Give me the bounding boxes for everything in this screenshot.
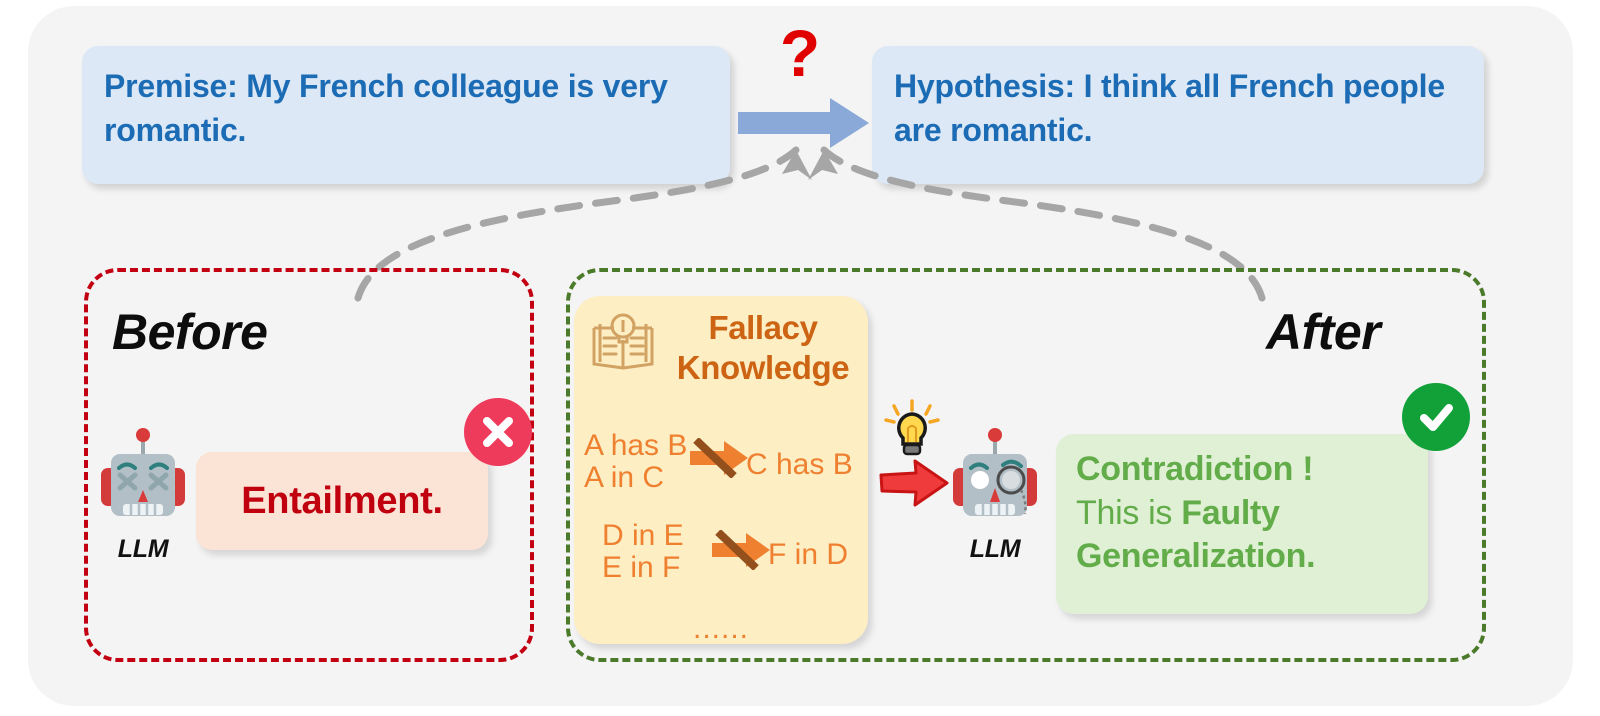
figure-canvas: Premise: My French colleague is very rom…	[0, 0, 1600, 716]
llm-after-label: LLM	[940, 535, 1050, 564]
after-answer-line1: Contradiction !	[1076, 448, 1408, 492]
llm-after: LLM	[940, 424, 1050, 564]
book-lightbulb-icon	[590, 310, 656, 374]
fallacy-ellipsis: ......	[574, 612, 868, 646]
fallacy-rule-2-premises: D in E E in F	[602, 520, 684, 585]
fallacy-rule-2-conclusion: F in D	[768, 538, 848, 572]
llm-before: LLM	[88, 424, 198, 564]
check-mark-icon	[1402, 383, 1470, 451]
entailment-answer: Entailment.	[196, 452, 488, 550]
fallacy-rule-1-premises: A has B A in C	[584, 430, 687, 495]
after-answer-line2-bold: Faulty	[1181, 494, 1279, 532]
after-title: After	[1266, 303, 1380, 361]
fallacy-rule-1-conclusion: C has B	[746, 448, 853, 482]
monocle-robot-icon	[945, 424, 1045, 528]
lightbulb-icon	[884, 398, 940, 460]
after-answer-line2: This is Faulty	[1076, 492, 1408, 536]
confused-robot-icon	[93, 424, 193, 528]
after-answer-line2-light: This is	[1076, 494, 1181, 532]
crossed-out-arrow-icon	[688, 438, 750, 478]
fallacy-knowledge-title: Fallacy Knowledge	[660, 308, 866, 387]
llm-before-label: LLM	[88, 535, 198, 564]
crossed-out-arrow-icon	[710, 530, 772, 570]
after-answer: Contradiction ! This is Faulty Generaliz…	[1056, 434, 1428, 614]
fallacy-knowledge-card: Fallacy Knowledge A has B A in C C has B…	[574, 296, 868, 644]
after-answer-line3: Generalization.	[1076, 535, 1408, 579]
cross-mark-icon	[464, 398, 532, 466]
question-mark-icon: ?	[770, 18, 830, 88]
before-title: Before	[112, 303, 267, 361]
